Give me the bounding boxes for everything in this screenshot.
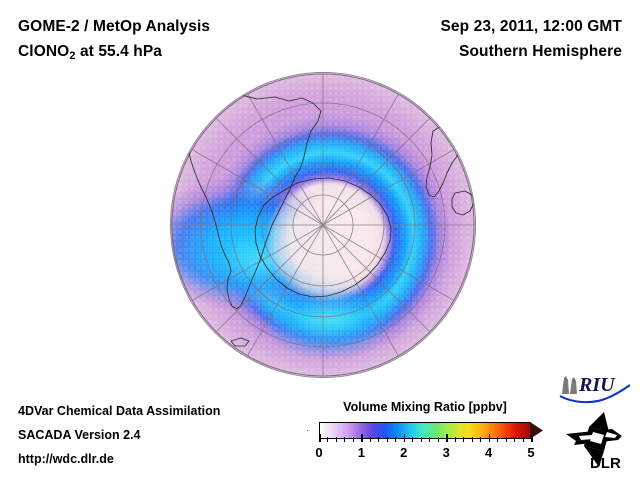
product-subscript: 2 [69,50,75,62]
colorbar-minor-tick [387,437,388,442]
colorbar-minor-tick [336,437,337,442]
colorbar-scale [307,420,543,442]
colorbar-title: Volume Mixing Ratio [ppbv] [307,400,543,414]
figure-canvas: GOME-2 / MetOp Analysis ClONO2 at 55.4 h… [0,0,640,480]
colorbar-major-tick [446,434,448,442]
colorbar-minor-tick [395,437,396,442]
colorbar-minor-tick [438,437,439,442]
footer-line-url[interactable]: http://wdc.dlr.de [18,452,114,466]
colorbar-minor-tick [480,437,481,442]
dlr-logo: DLR [560,410,634,472]
colorbar-minor-tick [463,437,464,442]
colorbar-minor-tick [514,437,515,442]
instrument-title: GOME-2 / MetOp Analysis [18,14,210,39]
colorbar-minor-tick [523,437,524,442]
colorbar-minor-tick [497,437,498,442]
colorbar-minor-tick [353,437,354,442]
polar-map [171,73,475,377]
timestamp-label: Sep 23, 2011, 12:00 GMT [440,14,622,39]
colorbar-minor-tick [506,437,507,442]
colorbar-tick-label: 0 [315,445,322,460]
product-name: ClONO [18,43,69,60]
colorbar-minor-tick [370,437,371,442]
colorbar-tick-labels: 012345 [307,445,543,463]
colorbar-minor-tick [327,437,328,442]
globe-disk [171,73,475,377]
colorbar-minor-tick [429,437,430,442]
colorbar-minor-tick [344,437,345,442]
colorbar-minor-tick [421,437,422,442]
riu-logo: RIU [557,372,633,406]
header-right: Sep 23, 2011, 12:00 GMT Southern Hemisph… [440,14,622,64]
colorbar-major-tick [489,434,491,442]
footer-line-version: SACADA Version 2.4 [18,428,141,442]
limb-shading [171,73,475,377]
riu-towers-icon [562,376,577,394]
header-left: GOME-2 / MetOp Analysis ClONO2 at 55.4 h… [18,14,210,66]
region-label: Southern Hemisphere [440,39,622,64]
colorbar-major-tick [319,434,321,442]
colorbar-minor-tick [472,437,473,442]
colorbar-major-tick [404,434,406,442]
colorbar-major-tick [531,434,533,442]
colorbar-tick-label: 4 [485,445,492,460]
product-title: ClONO2 at 55.4 hPa [18,39,210,66]
footer-line-method: 4DVar Chemical Data Assimilation [18,404,220,418]
colorbar-tick-label: 2 [400,445,407,460]
riu-wordmark: RIU [578,374,616,396]
colorbar-tick-label: 3 [443,445,450,460]
product-level: at 55.4 hPa [76,43,163,60]
colorbar: Volume Mixing Ratio [ppbv] 012345 [307,400,543,463]
colorbar-tick-label: 1 [358,445,365,460]
colorbar-major-tick [361,434,363,442]
colorbar-minor-tick [455,437,456,442]
dlr-wordmark: DLR [590,455,621,472]
colorbar-minor-tick [412,437,413,442]
colorbar-gradient [319,422,531,439]
colorbar-tick-label: 5 [527,445,534,460]
colorbar-minor-tick [378,437,379,442]
